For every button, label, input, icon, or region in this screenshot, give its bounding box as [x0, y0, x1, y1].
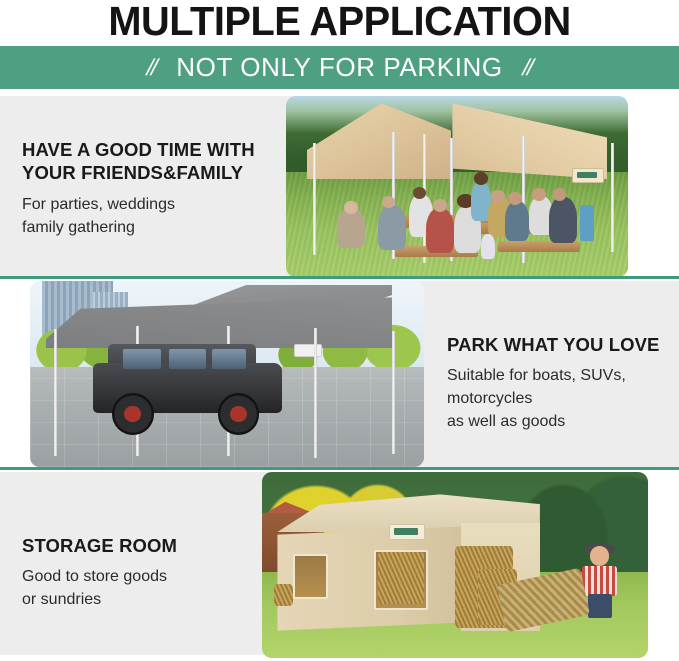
page-title: MULTIPLE APPLICATION: [10, 0, 669, 44]
black-suv: [93, 344, 282, 430]
hay-bale: [274, 584, 293, 606]
panel-party-photo: [286, 96, 628, 277]
slash-left-icon: //: [144, 54, 160, 81]
panel-park-body: Suitable for boats, SUVs, motorcycles as…: [447, 365, 672, 433]
canopy-post: [313, 143, 316, 255]
panel-party: HAVE A GOOD TIME WITH YOUR FRIENDS&FAMIL…: [0, 96, 679, 277]
canopy-post: [314, 328, 317, 458]
panel-park: PARK WHAT YOU LOVE Suitable for boats, S…: [0, 281, 679, 467]
panel-party-heading: HAVE A GOOD TIME WITH YOUR FRIENDS&FAMIL…: [22, 138, 277, 185]
blue-chair: [580, 205, 594, 241]
panel-storage-body: Good to store goods or sundries: [22, 566, 257, 611]
person-head: [474, 172, 488, 185]
canopy-post: [54, 329, 57, 455]
brand-logo-icon: [572, 168, 604, 183]
jeans: [588, 594, 612, 618]
plaid-shirt: [582, 566, 617, 596]
divider-2: [0, 467, 679, 470]
divider-1: [0, 276, 679, 279]
suv-window: [169, 349, 207, 370]
garage-window: [293, 554, 328, 599]
person: [337, 208, 364, 248]
person-head: [532, 188, 546, 201]
grey-canopy: [46, 285, 393, 348]
beige-canopy: [307, 103, 608, 179]
infographic-page: MULTIPLE APPLICATION // NOT ONLY FOR PAR…: [0, 0, 679, 661]
suv-wheel: [112, 393, 154, 435]
canopy-post: [611, 143, 614, 252]
canopy-post: [392, 331, 395, 454]
suv-wheel: [218, 393, 260, 435]
person: [426, 208, 453, 253]
banner-label: NOT ONLY FOR PARKING: [176, 52, 502, 83]
person: [481, 234, 495, 259]
panel-party-text: HAVE A GOOD TIME WITH YOUR FRIENDS&FAMIL…: [22, 138, 277, 239]
panel-park-text: PARK WHAT YOU LOVE Suitable for boats, S…: [447, 333, 672, 434]
brand-logo-icon: [294, 344, 322, 357]
person-head: [433, 199, 447, 212]
panel-storage-heading: STORAGE ROOM: [22, 534, 257, 557]
person-head: [508, 192, 522, 205]
hay-bale: [378, 552, 424, 604]
suv-window: [123, 349, 161, 370]
person-head: [491, 190, 505, 203]
person: [505, 201, 529, 241]
suv-window: [212, 349, 246, 370]
canopy-roof-left: [307, 103, 451, 179]
panel-park-heading: PARK WHAT YOU LOVE: [447, 333, 672, 356]
subtitle-banner: // NOT ONLY FOR PARKING //: [0, 46, 679, 89]
brand-logo-icon: [389, 524, 425, 540]
panel-park-photo: [30, 281, 424, 467]
banner-content: // NOT ONLY FOR PARKING //: [147, 52, 531, 83]
person: [549, 197, 576, 242]
panel-party-body: For parties, weddings family gathering: [22, 194, 277, 239]
person: [378, 205, 405, 250]
panel-storage-text: STORAGE ROOM Good to store goods or sund…: [22, 534, 257, 612]
panel-storage: STORAGE ROOM Good to store goods or sund…: [0, 472, 679, 658]
person-head: [344, 201, 358, 214]
slash-right-icon: //: [519, 54, 535, 81]
panel-storage-photo: [262, 472, 648, 658]
person-head: [590, 546, 609, 565]
